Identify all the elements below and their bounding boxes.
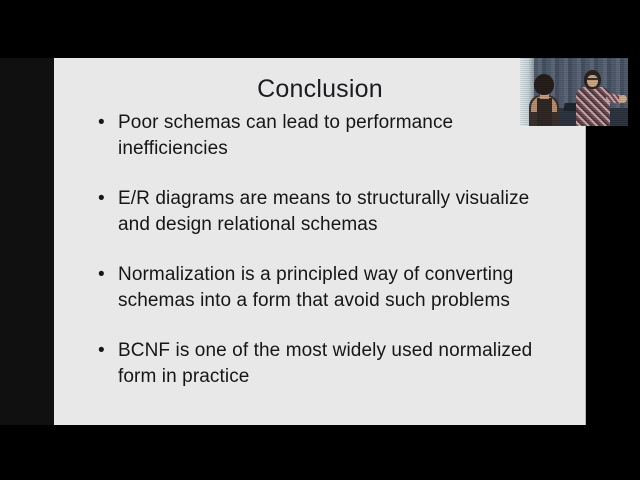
slide-bullet-item: • E/R diagrams are means to structurally…	[94, 186, 544, 238]
slide-bullet-item: • Poor schemas can lead to performance i…	[94, 110, 544, 162]
glasses-icon	[587, 78, 598, 80]
inset-bottom-filler	[586, 126, 640, 425]
bullet-dot-icon: •	[98, 186, 105, 212]
bullet-dot-icon: •	[98, 110, 105, 136]
bullet-dot-icon: •	[98, 262, 105, 288]
person-right-hand	[619, 95, 627, 103]
slide-bullet-text: Poor schemas can lead to performance ine…	[118, 110, 544, 162]
slide-bullet-list: • Poor schemas can lead to performance i…	[94, 110, 544, 390]
slide-bullet-text: BCNF is one of the most widely used norm…	[118, 338, 544, 390]
letterbox-bottom-bar	[0, 425, 640, 480]
slide-bullet-text: Normalization is a principled way of con…	[118, 262, 544, 314]
person-right-face	[587, 75, 598, 87]
bullet-dot-icon: •	[98, 338, 105, 364]
slide-bullet-item: • BCNF is one of the most widely used no…	[94, 338, 544, 390]
person-left-head	[534, 74, 554, 95]
video-player-frame: Conclusion • Poor schemas can lead to pe…	[0, 0, 640, 480]
presentation-slide: Conclusion • Poor schemas can lead to pe…	[54, 58, 586, 425]
person-right-body	[576, 87, 610, 126]
letterbox-top-bar	[0, 0, 640, 58]
person-left-garment	[537, 98, 552, 126]
pillar-left-bar	[0, 58, 54, 425]
slide-bullet-item: • Normalization is a principled way of c…	[94, 262, 544, 314]
slide-title: Conclusion	[54, 74, 586, 104]
speaker-camera-inset	[520, 58, 628, 126]
inset-right-filler	[628, 58, 640, 126]
slide-bullet-text: E/R diagrams are means to structurally v…	[118, 186, 544, 238]
